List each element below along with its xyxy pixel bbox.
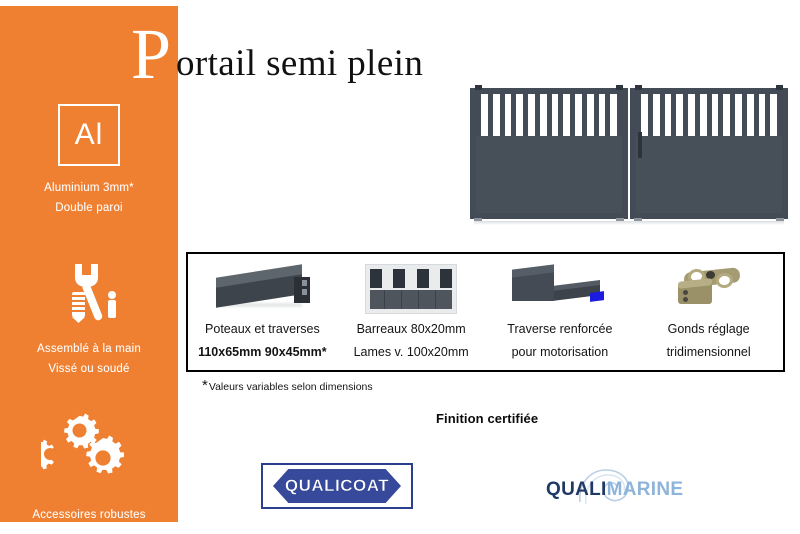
motorisation-traverse-icon — [486, 260, 635, 318]
adjustable-hinge-icon — [634, 260, 783, 318]
feature-item-motorisation-line2: pour motorisation — [512, 345, 609, 359]
feature-item-motorisation-line1: Traverse renforcée — [507, 322, 612, 336]
bars-slats-sample-icon — [337, 260, 486, 318]
feature-item-profiles: Poteaux et traverses 110x65mm 90x45mm* — [188, 254, 337, 370]
product-sheet-page: Al Aluminium 3mm* Double paroi — [0, 0, 800, 534]
sidebar-item-aluminium-line1: Aluminium 3mm* — [0, 178, 178, 198]
feature-item-bars: Barreaux 80x20mm Lames v. 100x20mm — [337, 254, 486, 370]
feature-item-bars-line1: Barreaux 80x20mm — [357, 322, 466, 336]
gears-icon — [0, 410, 178, 487]
gate-handle — [638, 132, 642, 158]
feature-item-hinges-line1: Gonds réglage — [668, 322, 750, 336]
footnote: *Valeurs variables selon dimensions — [202, 381, 373, 393]
qualimarine-logo: QUALIMARINE — [540, 466, 715, 510]
gate-leaf-right — [630, 88, 788, 219]
certification-heading: Finition certifiée — [436, 411, 538, 426]
feature-item-profiles-line1: Poteaux et traverses — [205, 322, 320, 336]
aluminium-square-icon: Al — [58, 104, 120, 166]
sidebar-item-assembly-line1: Assemblé à la main — [0, 339, 178, 359]
qualicoat-logo: QUALICOAT — [261, 463, 413, 509]
portail-semi-plein-illustration — [470, 88, 788, 228]
feature-item-bars-line2: Lames v. 100x20mm — [354, 345, 469, 359]
footnote-asterisk: * — [202, 377, 208, 394]
sidebar-item-assembly: Assemblé à la main Vissé ou soudé — [0, 262, 178, 379]
qualimarine-text-marine: MARINE — [607, 479, 684, 500]
aluminium-profile-icon — [188, 260, 337, 318]
qualicoat-logo-text: QUALICOAT — [285, 476, 389, 496]
sidebar-item-accessories: Accessoires robustes — [0, 410, 178, 525]
footnote-text: Valeurs variables selon dimensions — [209, 381, 373, 393]
gate-shadow — [474, 221, 784, 225]
qualimarine-logo-text: QUALIMARINE — [546, 479, 683, 501]
sidebar-item-accessories-line1: Accessoires robustes — [0, 505, 178, 525]
feature-item-hinges-line2: tridimensionnel — [667, 345, 751, 359]
sidebar-item-assembly-line2: Vissé ou soudé — [0, 359, 178, 379]
feature-item-motorisation: Traverse renforcée pour motorisation — [486, 254, 635, 370]
page-title-initial: P — [131, 18, 171, 90]
page-title: ortail semi plein — [176, 44, 423, 84]
sidebar-item-aluminium-line2: Double paroi — [0, 198, 178, 218]
feature-item-hinges: Gonds réglage tridimensionnel — [634, 254, 783, 370]
gate-leaf-left — [470, 88, 628, 219]
feature-item-profiles-line2: 110x65mm 90x45mm* — [198, 345, 327, 359]
qualimarine-text-quali: QUALI — [546, 479, 607, 500]
features-panel: Poteaux et traverses 110x65mm 90x45mm* B… — [186, 252, 785, 372]
aluminium-symbol-label: Al — [75, 120, 104, 150]
sidebar-item-aluminium: Al Aluminium 3mm* Double paroi — [0, 104, 178, 218]
wrench-bolt-icon — [0, 262, 178, 329]
